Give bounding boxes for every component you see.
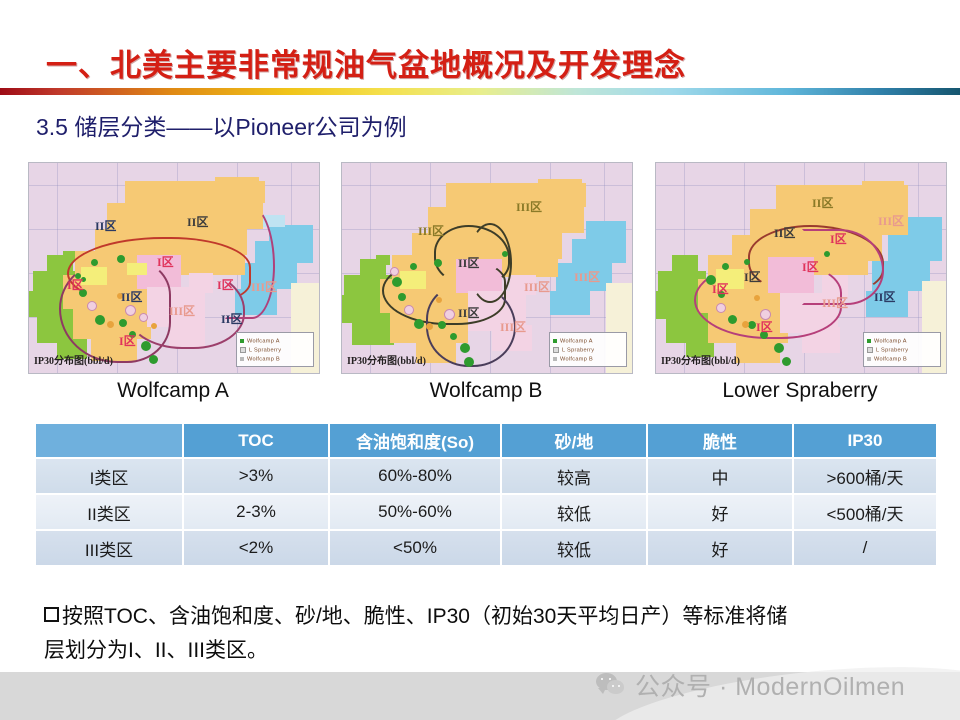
legend-swatch-l-spraberry — [867, 347, 873, 353]
watermark: 公众号 · ModernOilmen — [596, 665, 905, 705]
legend-label: L Spraberry — [876, 346, 908, 352]
map-wolfcamp-b[interactable]: III区 III区 II区 II区 III区 III区 III区 IP30分布图… — [341, 162, 633, 374]
cell-toc: >3% — [183, 458, 329, 494]
cell-toc: 2-3% — [183, 494, 329, 530]
zone-label: I区 — [712, 283, 729, 295]
zone-label: III区 — [574, 271, 600, 283]
row-label: I类区 — [35, 458, 183, 494]
bullet-line-2: 层划分为I、II、III类区。 — [44, 639, 268, 662]
cell-so: <50% — [329, 530, 501, 566]
table-header-so: 含油饱和度(So) — [329, 423, 501, 458]
slide-canvas: 一、北美主要非常规油气盆地概况及开发理念 3.5 储层分类——以Pioneer公… — [0, 0, 960, 720]
zone-label: III区 — [516, 201, 542, 213]
wechat-icon — [596, 673, 626, 697]
zone-label: III区 — [500, 321, 526, 333]
page-title: 一、北美主要非常规油气盆地概况及开发理念 — [46, 40, 906, 84]
table-header-row: TOC 含油饱和度(So) 砂/地 脆性 IP30 — [35, 423, 937, 458]
map-row: II区 II区 I区 I区 I区 II区 III区 III区 II区 I区 IP… — [0, 162, 960, 374]
legend-label: L Spraberry — [249, 346, 281, 352]
ip30-caption: IP30分布图(bbl/d) — [661, 352, 740, 367]
legend-swatch-wolfcamp-b — [240, 357, 244, 361]
zone-label: I区 — [217, 279, 234, 291]
cell-brittle: 好 — [647, 530, 793, 566]
summary-bullet: 按照TOC、含油饱和度、砂/地、脆性、IP30（初始30天平均日产）等标准将储 … — [44, 600, 924, 668]
zone-label: III区 — [251, 281, 277, 293]
zone-label: II区 — [95, 220, 116, 232]
cell-brittle: 中 — [647, 458, 793, 494]
cell-so: 50%-60% — [329, 494, 501, 530]
legend-label: Wolfcamp B — [874, 355, 907, 361]
cell-sand: 较低 — [501, 494, 647, 530]
zone-label: III区 — [524, 281, 550, 293]
map-canvas: II区 II区 III区 I区 I区 I区 I区 I区 III区 II区 IP3… — [656, 163, 946, 373]
legend-swatch-wolfcamp-a — [867, 339, 871, 343]
legend-swatch-wolfcamp-a — [553, 339, 557, 343]
map-lower-spraberry[interactable]: II区 II区 III区 I区 I区 I区 I区 I区 III区 II区 IP3… — [655, 162, 947, 374]
zone-label: III区 — [878, 215, 904, 227]
legend-label: Wolfcamp A — [560, 337, 593, 343]
zone-label: I区 — [119, 335, 136, 347]
zone-label: II区 — [874, 291, 895, 303]
cell-ip30: <500桶/天 — [793, 494, 937, 530]
zone-label: I区 — [157, 256, 174, 268]
zone-label: II区 — [187, 216, 208, 228]
table-row: I类区 >3% 60%-80% 较高 中 >600桶/天 — [35, 458, 937, 494]
map-legend: Wolfcamp A L Spraberry Wolfcamp B — [863, 332, 941, 367]
cell-toc: <2% — [183, 530, 329, 566]
zone-label: I区 — [830, 233, 847, 245]
map-caption-lower-spraberry: Lower Spraberry — [655, 378, 945, 404]
legend-label: Wolfcamp A — [247, 337, 280, 343]
zone-label: II区 — [458, 257, 479, 269]
map-canvas: II区 II区 I区 I区 I区 II区 III区 III区 II区 I区 IP… — [29, 163, 319, 373]
table-row: II类区 2-3% 50%-60% 较低 好 <500桶/天 — [35, 494, 937, 530]
table-row: III类区 <2% <50% 较低 好 / — [35, 530, 937, 566]
map-caption-wolfcamp-b: Wolfcamp B — [341, 378, 631, 404]
map-caption-wolfcamp-a: Wolfcamp A — [28, 378, 318, 404]
zone-label: II区 — [458, 307, 479, 319]
legend-swatch-wolfcamp-a — [240, 339, 244, 343]
table-header-sand: 砂/地 — [501, 423, 647, 458]
row-label: II类区 — [35, 494, 183, 530]
cell-sand: 较低 — [501, 530, 647, 566]
zone-label: III区 — [418, 225, 444, 237]
cell-ip30: / — [793, 530, 937, 566]
legend-swatch-wolfcamp-b — [867, 357, 871, 361]
cell-so: 60%-80% — [329, 458, 501, 494]
table-header-brittle: 脆性 — [647, 423, 793, 458]
zone-label: II区 — [221, 313, 242, 325]
row-label: III类区 — [35, 530, 183, 566]
zone-label: I区 — [744, 271, 761, 283]
ip30-caption: IP30分布图(bbl/d) — [34, 352, 113, 367]
cell-ip30: >600桶/天 — [793, 458, 937, 494]
zone-label: II区 — [812, 197, 833, 209]
zone-label: I区 — [67, 279, 84, 291]
map-canvas: III区 III区 II区 II区 III区 III区 III区 IP30分布图… — [342, 163, 632, 373]
legend-swatch-wolfcamp-b — [553, 357, 557, 361]
cell-sand: 较高 — [501, 458, 647, 494]
ip30-caption: IP30分布图(bbl/d) — [347, 352, 426, 367]
zone-label: III区 — [169, 305, 195, 317]
zone-label: II区 — [121, 291, 142, 303]
legend-label: Wolfcamp A — [874, 337, 907, 343]
map-legend: Wolfcamp A L Spraberry Wolfcamp B — [236, 332, 314, 367]
legend-label: Wolfcamp B — [247, 355, 280, 361]
table-header-toc: TOC — [183, 423, 329, 458]
legend-label: L Spraberry — [562, 346, 594, 352]
zone-label: II区 — [774, 227, 795, 239]
bullet-square-icon — [44, 607, 59, 622]
title-divider-gradient — [0, 88, 960, 95]
section-subtitle: 3.5 储层分类——以Pioneer公司为例 — [36, 108, 407, 142]
zone-label: I区 — [802, 261, 819, 273]
table-header-ip30: IP30 — [793, 423, 937, 458]
legend-swatch-l-spraberry — [553, 347, 559, 353]
bullet-line-1: 按照TOC、含油饱和度、砂/地、脆性、IP30（初始30天平均日产）等标准将储 — [62, 605, 787, 628]
classification-table: TOC 含油饱和度(So) 砂/地 脆性 IP30 I类区 >3% 60%-80… — [34, 422, 938, 567]
zone-label: I区 — [756, 321, 773, 333]
cell-brittle: 好 — [647, 494, 793, 530]
map-legend: Wolfcamp A L Spraberry Wolfcamp B — [549, 332, 627, 367]
map-wolfcamp-a[interactable]: II区 II区 I区 I区 I区 II区 III区 III区 II区 I区 IP… — [28, 162, 320, 374]
watermark-text: 公众号 · ModernOilmen — [635, 667, 905, 703]
legend-label: Wolfcamp B — [560, 355, 593, 361]
table-header-corner — [35, 423, 183, 458]
zone-label: III区 — [822, 297, 848, 309]
legend-swatch-l-spraberry — [240, 347, 246, 353]
